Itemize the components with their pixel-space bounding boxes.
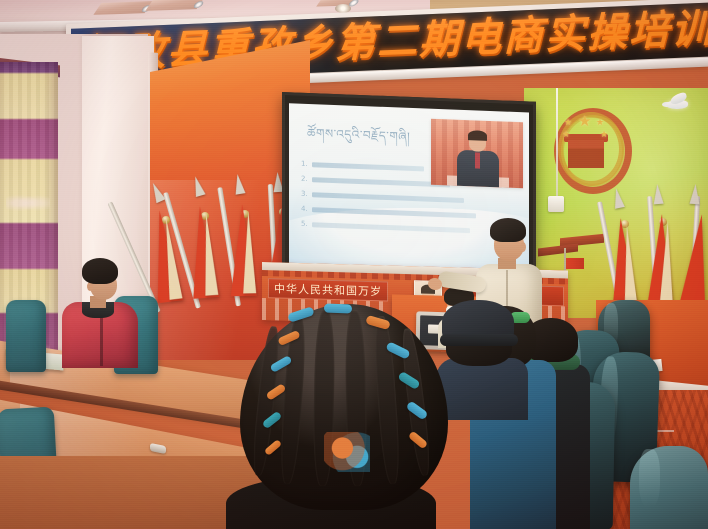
braided-hair-attendee [226,300,466,529]
emblem-star-icon: ★ [564,118,572,127]
curtain-motif [6,190,50,216]
flag-highlight [242,210,256,293]
video-speaker-hair [468,130,487,141]
speaker-video-inset [431,119,523,189]
mural-red-flag [566,258,584,269]
flag-highlight [660,220,674,303]
emblem-star-icon: ★ [578,114,591,129]
braid-strand [372,316,402,485]
bullet-number: 3. [301,190,308,198]
bullet-number: 1. [301,160,308,168]
hair-thread-blue [324,304,352,314]
braided-hair [240,304,448,510]
video-speaker-tie [475,152,480,168]
instructor-ear [520,242,526,252]
emblem-tiananmen-gate [568,140,604,168]
bullet-number: 2. [301,175,308,183]
emblem-star-icon: ★ [600,130,608,139]
seated-man-red-jacket [56,258,148,368]
wire-junction-box [548,196,564,212]
slide-title: ཚོགས་འདུའི་བརྗོད་གཞི། [307,120,410,158]
bullet-text-glyph [312,177,450,187]
jacket-zipper [100,314,103,366]
bullet-text-glyph [312,162,424,171]
emblem-star-icon: ★ [562,130,570,139]
hanging-wire [556,88,558,196]
hair [82,258,118,284]
hair-ornament [324,432,370,472]
bullet-number: 5. [301,220,308,228]
teal-conference-chair [6,300,46,372]
slide-bullet: 3. [301,190,521,206]
bullet-number: 4. [301,205,308,213]
flag-pole-tip-icon [689,184,700,204]
bullet-text-glyph [312,222,470,233]
track-light-icon [93,1,152,15]
flag-pole-tip-icon [652,184,663,205]
bullet-text-glyph [312,192,464,203]
peace-dove-icon [662,94,692,112]
training-room-photo: 江孜县重孜乡第二期电商实操培训 [0,0,708,529]
bullet-text-glyph [312,207,476,218]
instructor-hair [490,218,526,242]
national-emblem-icon: ★ ★ ★ ★ ★ [552,104,620,188]
auditorium-chair [630,446,708,529]
emblem-star-icon: ★ [596,118,604,127]
